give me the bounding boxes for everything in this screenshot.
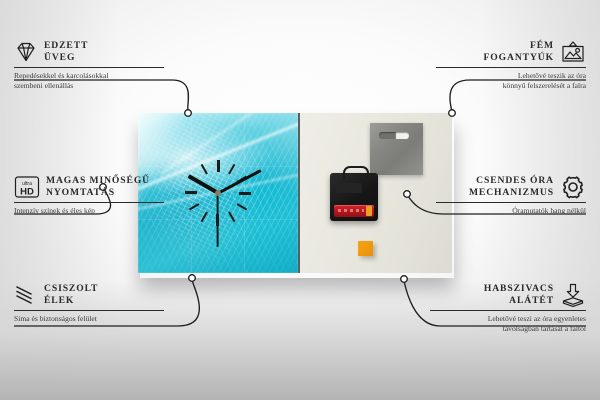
callout-metal-handles[interactable]: FÉM FOGANTYÚK Lehetővé teszik az óra kön… (436, 40, 586, 91)
callout-subtitle: Lehetővé teszi az óra egyenletes távolsá… (430, 314, 586, 334)
callout-title: MAGAS MINŐSÉGŰ NYOMTATÁS (46, 175, 150, 199)
callout-divider (14, 310, 164, 311)
callout-header: FÉM FOGANTYÚK (436, 40, 586, 64)
clock-mechanism (330, 173, 378, 221)
callout-header: ultra HD MAGAS MINŐSÉGŰ NYOMTATÁS (14, 175, 164, 199)
foam-pad (358, 241, 373, 256)
callout-tempered-glass[interactable]: EDZETT ÜVEG Repedésekkel és karcolásokka… (14, 40, 164, 91)
callout-title: EDZETT ÜVEG (44, 40, 88, 64)
callout-header: HABSZIVACS ALÁTÉT (430, 283, 586, 307)
metal-hanger-plate (370, 123, 423, 175)
battery (334, 205, 374, 217)
infographic-canvas: EDZETT ÜVEG Repedésekkel és karcolásokka… (0, 0, 600, 400)
diamond-icon (14, 41, 38, 63)
callout-subtitle: Repedésekkel és karcolásokkal szembeni e… (14, 71, 164, 91)
callout-foam-pad[interactable]: HABSZIVACS ALÁTÉT Lehetővé teszi az óra … (430, 283, 586, 334)
callout-title: CSISZOLT ÉLEK (44, 283, 98, 307)
second-hand (217, 193, 219, 247)
picture-hanger-icon (560, 40, 586, 64)
callout-silent-mechanism[interactable]: CSENDES ÓRA MECHANIZMUS Óramutatók hang … (436, 175, 586, 216)
mechanism-hanging-loop (343, 166, 369, 179)
svg-text:HD: HD (20, 186, 34, 197)
polished-edges-icon (14, 284, 38, 306)
hanger-slot (379, 132, 409, 139)
callout-title: CSENDES ÓRA MECHANIZMUS (469, 175, 554, 199)
callout-subtitle: Lehetővé teszik az óra könnyű felszerelé… (436, 71, 586, 91)
clock-back-panel (300, 113, 452, 273)
callout-high-quality-print[interactable]: ultra HD MAGAS MINŐSÉGŰ NYOMTATÁS Intenz… (14, 175, 164, 216)
callout-divider (14, 202, 164, 203)
callout-title: HABSZIVACS ALÁTÉT (484, 283, 554, 307)
mechanism-shaft (336, 183, 362, 193)
ultra-hd-icon: ultra HD (14, 175, 40, 199)
gear-icon (560, 175, 586, 199)
callout-subtitle: Intenzív színek és éles kép (14, 206, 164, 216)
callout-divider (430, 310, 586, 311)
callout-polished-edges[interactable]: CSISZOLT ÉLEK Sima és biztonságos felüle… (14, 283, 164, 324)
callout-divider (14, 67, 164, 68)
product-image (138, 113, 452, 273)
callout-divider (436, 67, 586, 68)
callout-subtitle: Sima és biztonságos felület (14, 314, 164, 324)
hand-center-cap (215, 190, 221, 196)
callout-divider (436, 202, 586, 203)
callout-header: CSENDES ÓRA MECHANIZMUS (436, 175, 586, 199)
callout-header: CSISZOLT ÉLEK (14, 283, 164, 307)
callout-subtitle: Óramutatók hang nélkül (436, 206, 586, 216)
press-pad-icon (560, 283, 586, 307)
callout-header: EDZETT ÜVEG (14, 40, 164, 64)
callout-title: FÉM FOGANTYÚK (484, 40, 554, 64)
